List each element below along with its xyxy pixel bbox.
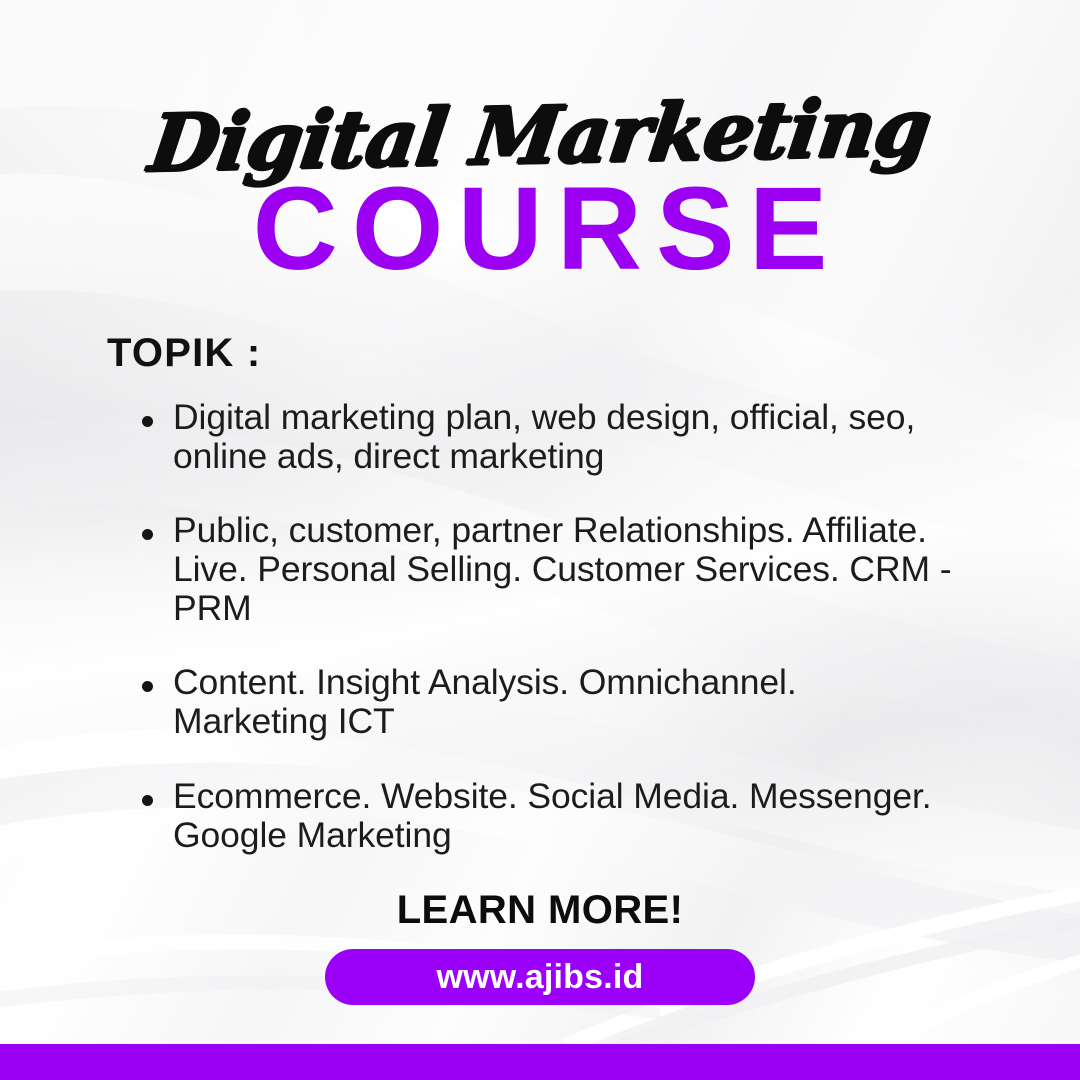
list-item-text: Content. Insight Analysis. Omnichannel. … — [173, 662, 797, 741]
bullet-icon — [142, 795, 153, 806]
list-item: Ecommerce. Website. Social Media. Messen… — [133, 777, 953, 854]
cta-headline: LEARN MORE! — [0, 888, 1080, 933]
bullet-icon — [142, 529, 153, 540]
cta-section: LEARN MORE! www.ajibs.id — [0, 888, 1080, 1005]
list-item-text: Digital marketing plan, web design, offi… — [173, 397, 915, 476]
list-item-text: Ecommerce. Website. Social Media. Messen… — [173, 776, 932, 855]
list-item-text: Public, customer, partner Relationships.… — [173, 510, 951, 627]
topics-heading: TOPIK : — [107, 331, 261, 376]
bottom-accent-bar — [0, 1044, 1080, 1080]
bullet-icon — [142, 416, 153, 427]
list-item: Digital marketing plan, web design, offi… — [133, 398, 953, 475]
website-url-button[interactable]: www.ajibs.id — [325, 949, 755, 1005]
topics-list: Digital marketing plan, web design, offi… — [133, 398, 953, 854]
poster-canvas: Digital Marketing COURSE TOPIK : Digital… — [0, 0, 1080, 1080]
poster-header: Digital Marketing COURSE — [0, 96, 1080, 289]
script-title: Digital Marketing — [145, 88, 935, 183]
list-item: Content. Insight Analysis. Omnichannel. … — [133, 663, 953, 740]
bullet-icon — [142, 681, 153, 692]
list-item: Public, customer, partner Relationships.… — [133, 511, 953, 627]
